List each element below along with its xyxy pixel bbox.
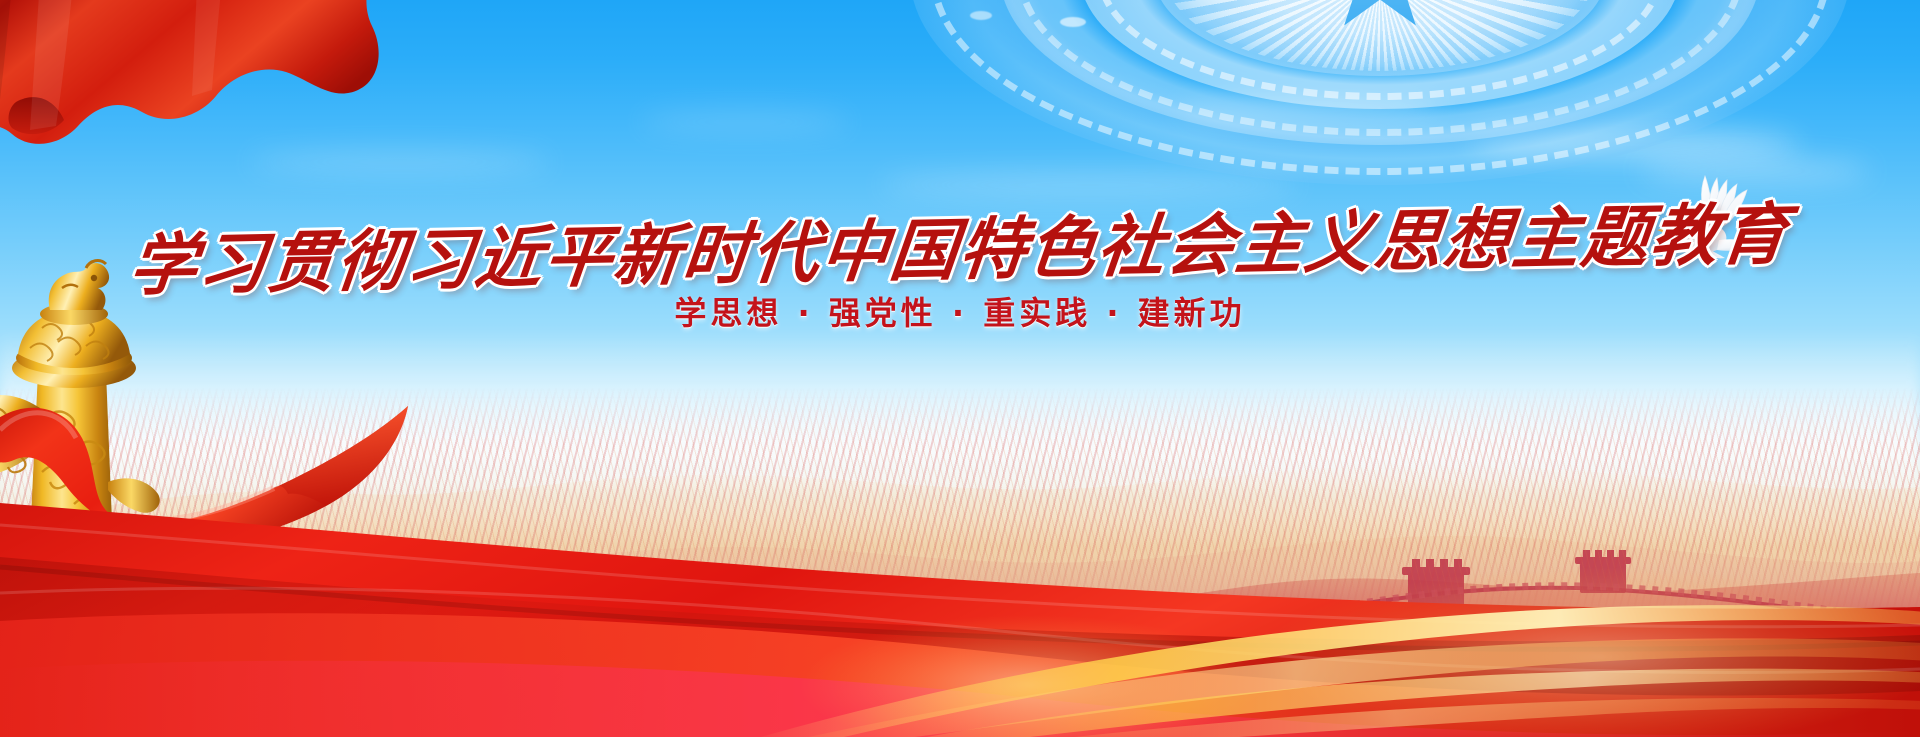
- bottom-red-silk-ribbon: [0, 407, 1920, 737]
- cloud-wisp: [1180, 96, 1440, 122]
- cloud-wisp: [880, 172, 1300, 198]
- red-waving-flag-icon: [0, 0, 390, 160]
- banner-stage: 学习贯彻习近平新时代中国特色社会主义思想主题教育 学思想 · 强党性 · 重实践…: [0, 0, 1920, 737]
- white-dove-icon: [1655, 170, 1775, 260]
- cloud-wisp: [640, 112, 850, 132]
- cloud-wisp: [1470, 130, 1800, 160]
